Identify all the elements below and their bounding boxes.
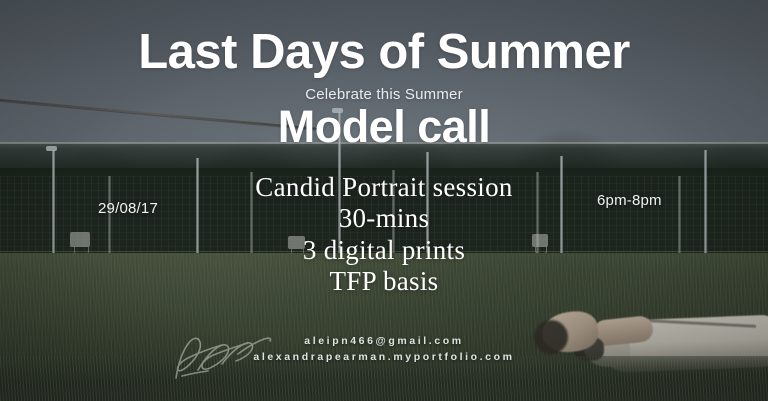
session-detail-item: 30-mins: [0, 203, 768, 234]
poster-image: Last Days of Summer Celebrate this Summe…: [0, 0, 768, 401]
contact-email[interactable]: aleipn466@gmail.com: [0, 333, 768, 349]
poster-text-overlay: Last Days of Summer Celebrate this Summe…: [0, 0, 768, 401]
poster-secondary-title: Model call: [0, 104, 768, 149]
signature-watermark-icon: [168, 326, 278, 388]
session-detail-item: TFP basis: [0, 266, 768, 297]
session-detail-item: 3 digital prints: [0, 235, 768, 266]
contact-website[interactable]: alexandrapearman.myportfolio.com: [0, 349, 768, 365]
session-details-list: Candid Portrait session 30-mins 3 digita…: [0, 172, 768, 297]
session-detail-item: Candid Portrait session: [0, 172, 768, 203]
poster-title: Last Days of Summer: [0, 28, 768, 77]
contact-block: aleipn466@gmail.com alexandrapearman.myp…: [0, 333, 768, 366]
